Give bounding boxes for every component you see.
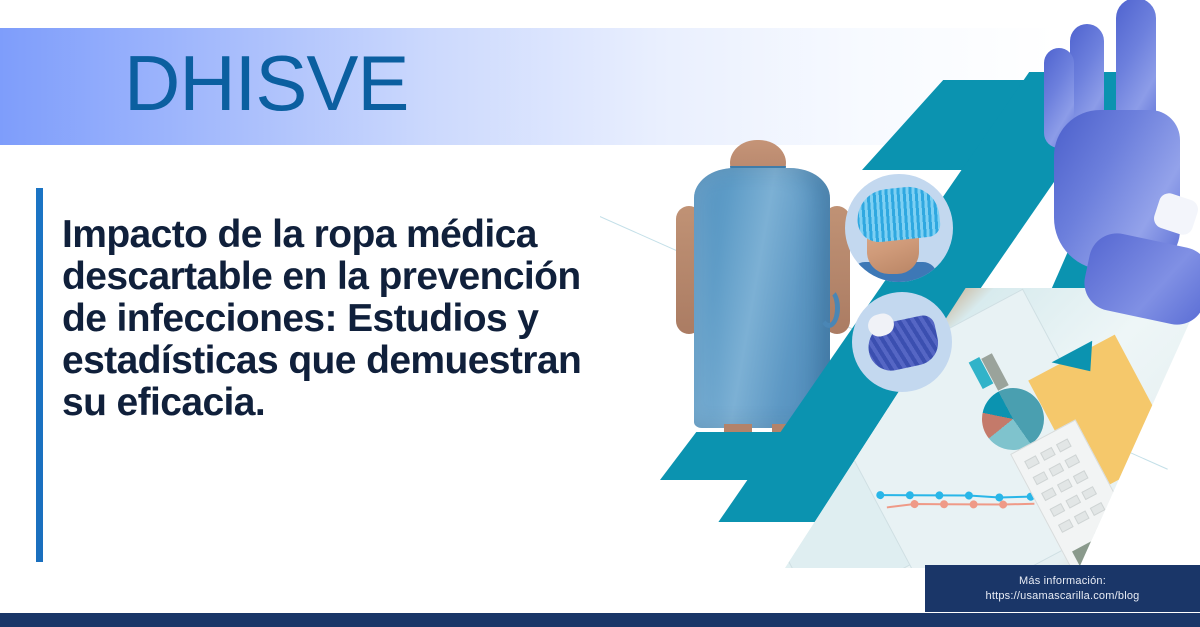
surgical-cap-icon xyxy=(855,184,942,244)
nurse-with-surgical-cap-photo xyxy=(845,174,953,282)
calculator-key xyxy=(1057,479,1073,493)
calculator-key xyxy=(1090,502,1106,516)
glove-wrist xyxy=(1079,228,1200,330)
calculator-key xyxy=(1064,454,1080,468)
bottom-accent-bar xyxy=(0,613,1200,627)
calculator-key xyxy=(1081,486,1097,500)
disposable-shoe-cover-photo xyxy=(852,292,952,392)
gown-tie xyxy=(818,288,840,328)
more-info-label: Más información: xyxy=(1019,574,1106,589)
calculator-key xyxy=(1049,463,1065,477)
artwork-panel xyxy=(600,0,1200,627)
calculator-key xyxy=(1033,471,1049,485)
banner-canvas: DHISVE xyxy=(0,0,1200,627)
calculator-key xyxy=(1074,510,1090,524)
page-title: Impacto de la ropa médica descartable en… xyxy=(62,214,592,424)
calculator-screen xyxy=(1072,525,1134,568)
calculator-key xyxy=(1024,455,1040,469)
calculator-key xyxy=(1058,519,1074,533)
calculator-key xyxy=(1056,438,1072,452)
left-accent-rule xyxy=(36,188,43,562)
more-info-box[interactable]: Más información: https://usamascarilla.c… xyxy=(925,565,1200,612)
gown-body xyxy=(694,168,830,428)
blue-nitrile-gloves-photo xyxy=(1030,0,1200,320)
calculator-key xyxy=(1040,447,1056,461)
calculator-key xyxy=(1041,487,1057,501)
more-info-url[interactable]: https://usamascarilla.com/blog xyxy=(986,589,1140,604)
calculator-key xyxy=(1073,470,1089,484)
calculator-key xyxy=(1065,495,1081,509)
brand-logo[interactable]: DHISVE xyxy=(124,44,408,122)
calculator-key xyxy=(1050,503,1066,517)
